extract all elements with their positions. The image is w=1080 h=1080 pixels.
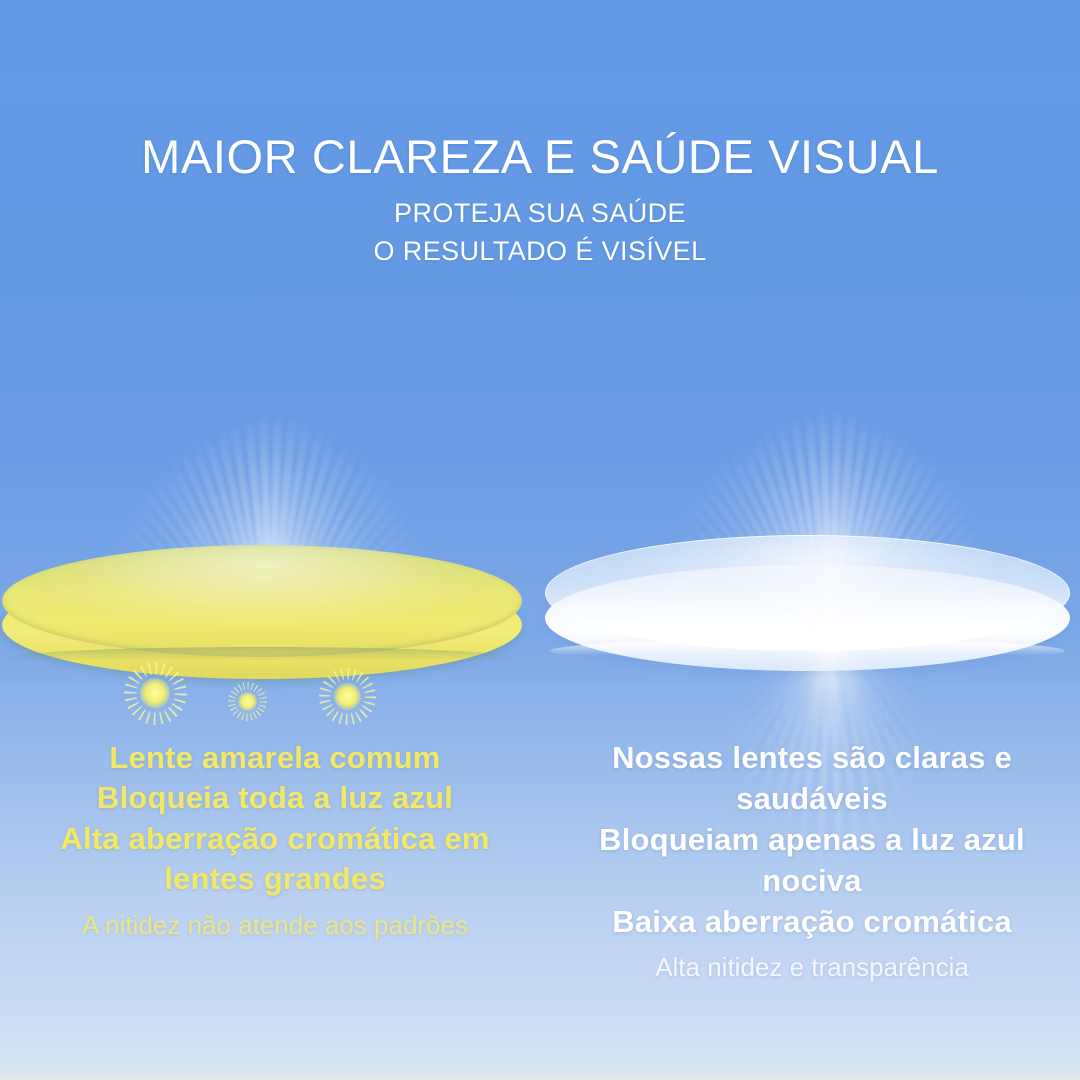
page-subtitle-line-1: PROTEJA SUA SAÚDE: [0, 195, 1080, 232]
caption-right-line-4: nociva: [548, 861, 1076, 902]
caption-right-thin: Alta nitidez e transparência: [548, 950, 1076, 985]
caption-left-line-2: Bloqueia toda a luz azul: [10, 778, 540, 818]
caption-left-line-4: lentes grandes: [10, 859, 540, 899]
promo-banner: MAIOR CLAREZA E SAÚDE VISUAL PROTEJA SUA…: [0, 0, 1080, 1080]
clear-lens-edge-line: [550, 639, 1065, 663]
caption-left-thin: A nitidez não atende aos padrões: [10, 908, 540, 943]
caption-left-line-3: Alta aberração cromática em: [10, 819, 540, 859]
caption-right: Nossas lentes são claras e saudáveis Blo…: [548, 738, 1076, 985]
clear-lens: [545, 535, 1070, 687]
yellow-lens: [2, 545, 522, 693]
caption-right-bold: Nossas lentes são claras e saudáveis Blo…: [548, 738, 1076, 943]
caption-left-line-1: Lente amarela comum: [10, 738, 540, 778]
caption-right-line-3: Bloqueiam apenas a luz azul: [548, 820, 1076, 861]
glow-dot-1: [140, 678, 170, 708]
glow-dot-2: [238, 692, 257, 711]
clear-lens-surface: [545, 535, 1070, 651]
caption-right-line-5: Baixa aberração cromática: [548, 902, 1076, 943]
caption-right-line-2: saudáveis: [548, 779, 1076, 820]
yellow-lens-surface: [2, 545, 522, 657]
page-subtitle: PROTEJA SUA SAÚDE O RESULTADO É VISÍVEL: [0, 195, 1080, 270]
caption-left-bold: Lente amarela comum Bloqueia toda a luz …: [10, 738, 540, 899]
page-title: MAIOR CLAREZA E SAÚDE VISUAL: [0, 132, 1080, 181]
caption-left: Lente amarela comum Bloqueia toda a luz …: [10, 738, 540, 943]
header-block: MAIOR CLAREZA E SAÚDE VISUAL PROTEJA SUA…: [0, 132, 1080, 270]
yellow-lens-edge-line: [10, 647, 514, 669]
caption-right-line-1: Nossas lentes são claras e: [548, 738, 1076, 779]
page-subtitle-line-2: O RESULTADO É VISÍVEL: [0, 233, 1080, 270]
glow-dot-3: [334, 683, 361, 710]
